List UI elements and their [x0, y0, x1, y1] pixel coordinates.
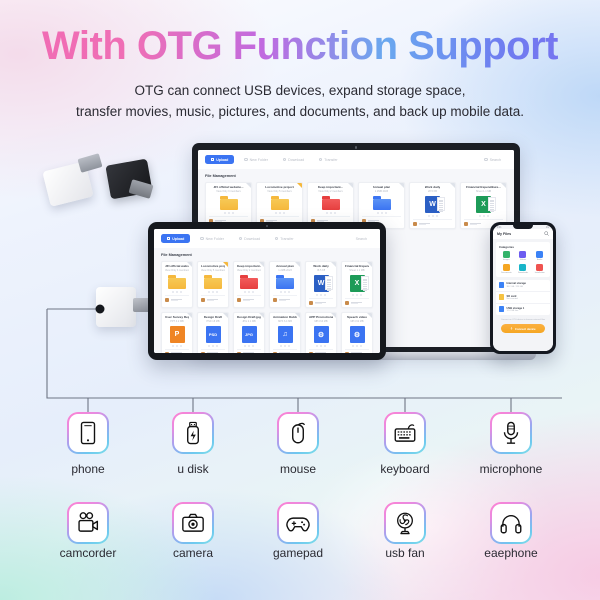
file-card-subtitle: 1.2MB 2023	[375, 190, 388, 193]
device-tile-keyboard[interactable]	[384, 412, 426, 454]
file-card-icon	[240, 275, 258, 289]
doc-word-icon: W	[425, 196, 440, 213]
gamepad-icon	[285, 510, 311, 536]
file-card-subtitle: MP4 92 MB	[350, 320, 363, 323]
phone-category[interactable]: Installation	[532, 264, 547, 274]
file-card-avatars	[352, 345, 362, 347]
file-card[interactable]: Keep important...View Only 2 members	[233, 261, 265, 308]
file-card-avatars	[172, 291, 182, 293]
folder-yellow-icon	[271, 196, 289, 210]
file-card-icon: ⚙	[314, 326, 329, 343]
page-title: With OTG Function Support	[0, 24, 600, 69]
file-card-title: JFI official website...	[165, 265, 189, 269]
device-label: camcorder	[33, 546, 143, 560]
card-corner-fold	[501, 183, 506, 188]
file-card-icon	[271, 196, 289, 210]
avatar	[309, 301, 313, 305]
file-card-subtitle: 1.2MB 2023	[278, 269, 291, 272]
phone-category[interactable]: Audio	[532, 251, 547, 261]
storage-icon	[499, 294, 504, 300]
folder-blue-icon	[276, 275, 294, 289]
file-card-title: Work daily	[425, 186, 441, 190]
file-card-icon: PSD	[206, 326, 221, 343]
usb-flash-drive-icon	[180, 420, 206, 446]
file-card-avatars	[275, 212, 285, 214]
action-transfer-tablet[interactable]: Transfer	[270, 234, 298, 243]
file-manager-tablet: Upload New Folder Download Transfer	[154, 229, 380, 353]
folder-yellow-icon	[220, 196, 238, 210]
upload-icon	[167, 237, 170, 240]
usb-icon	[510, 327, 513, 330]
device-tile-camcorder[interactable]	[67, 502, 109, 544]
device-tile-camera[interactable]	[172, 502, 214, 544]
category-icon	[536, 264, 543, 271]
mouse-icon	[285, 420, 311, 446]
file-card-footer	[237, 295, 261, 302]
camera-icon	[180, 510, 206, 536]
category-label: Audio	[537, 259, 542, 261]
avatar	[165, 352, 169, 353]
connect-device-label: Connect device	[515, 327, 536, 331]
connect-device-button[interactable]: Connect device	[501, 324, 545, 333]
file-card-avatars	[377, 212, 387, 214]
download-icon	[283, 158, 286, 161]
file-card-title: Annual plan	[276, 265, 294, 269]
file-card-avatars	[172, 345, 182, 347]
file-card-footer	[273, 295, 297, 302]
file-card[interactable]: JFI official website...View Only 3 membe…	[161, 261, 193, 308]
file-card-title: Design Draft	[204, 316, 222, 320]
file-card-title: Annual plan	[373, 186, 391, 190]
file-card-subtitle: Sheet 1.1 MB	[476, 190, 491, 193]
file-card-footer	[413, 219, 452, 226]
card-corner-fold	[223, 262, 228, 267]
avatar	[413, 222, 417, 226]
phone-mockup: 9:41 4G My Files Categories ImagesVideos…	[490, 222, 556, 354]
doc-video-icon: ⚙	[314, 326, 329, 343]
storage-detail: 12.4 GB free	[507, 310, 525, 312]
category-icon	[519, 251, 526, 258]
file-manager-toolbar-tablet: Upload New Folder Download Transfer	[154, 229, 380, 248]
file-card-icon	[276, 275, 294, 289]
file-card[interactable]: APP Promotional VideoMP4 64 MB⚙	[305, 312, 337, 353]
file-card-subtitle: View Only 2 members	[318, 190, 342, 193]
avatar	[273, 298, 277, 302]
otg-adapter-black-top	[104, 152, 166, 206]
device-label: mouse	[243, 462, 353, 476]
device-tile-mouse[interactable]	[277, 412, 319, 454]
folder-blue-icon	[373, 196, 391, 210]
file-card-avatars	[244, 291, 254, 293]
file-card-avatars	[352, 294, 362, 296]
category-icon	[536, 251, 543, 258]
avatar	[237, 298, 241, 302]
file-card-avatars	[208, 291, 218, 293]
search-input-tablet[interactable]: Search	[348, 234, 373, 243]
avatar	[165, 298, 169, 302]
avatar	[309, 352, 313, 353]
device-label: phone	[33, 462, 143, 476]
file-card-avatars	[428, 215, 438, 217]
device-label: microphone	[456, 462, 566, 476]
card-corner-fold	[295, 313, 300, 318]
card-corner-fold	[450, 183, 455, 188]
device-tile-gamepad[interactable]	[277, 502, 319, 544]
file-card-avatars	[224, 212, 234, 214]
file-card-footer	[345, 298, 369, 305]
download-icon	[239, 237, 242, 240]
file-card-icon: X	[350, 275, 365, 292]
file-card[interactable]: Design Draft.jpgJPG 2.1 MBJPG	[233, 312, 265, 353]
file-card-avatars	[280, 291, 290, 293]
doc-ppt-icon: P	[170, 326, 185, 343]
action-download[interactable]: Download	[278, 155, 309, 164]
file-card[interactable]: Locomotive projectView Only 5 members	[197, 261, 229, 308]
avatar	[464, 222, 468, 226]
file-card[interactable]: Animation DubbingMP3 6.4 MB♫	[269, 312, 301, 353]
otg-adapter-white-top	[46, 152, 108, 204]
upload-button-tablet[interactable]: Upload	[161, 234, 190, 243]
file-card-subtitle: JPG 2.1 MB	[242, 320, 255, 323]
phone-category[interactable]: Images	[499, 251, 514, 261]
doc-excel-icon: X	[350, 275, 365, 292]
storage-detail: 38.2 GB / 128 GB	[507, 286, 526, 288]
file-manager-toolbar: Upload New Folder Download Transfer	[198, 150, 514, 169]
file-card-footer	[201, 295, 225, 302]
device-tile-microphone[interactable]	[490, 412, 532, 454]
file-card-title: JFI official website...	[213, 186, 243, 190]
file-card-avatars	[316, 294, 326, 296]
action-new-folder[interactable]: New Folder	[239, 155, 273, 164]
doc-video-icon: ⚙	[350, 326, 365, 343]
card-corner-fold	[187, 262, 192, 267]
file-card[interactable]: Financial Expenditure...Sheet 1.1 MBX	[341, 261, 373, 308]
card-corner-fold	[246, 183, 251, 188]
device-label: eaephone	[456, 546, 566, 560]
phone-app-header: My Files	[493, 229, 553, 239]
file-card-subtitle: 28.5 KB	[428, 190, 437, 193]
card-corner-fold	[295, 262, 300, 267]
phone-file-app: 9:41 4G My Files Categories ImagesVideos…	[493, 225, 553, 351]
file-card-footer	[237, 349, 261, 353]
file-card-icon: W	[314, 275, 329, 292]
file-card-subtitle: View Only 3 members	[216, 190, 240, 193]
device-label: keyboard	[350, 462, 460, 476]
file-card-icon	[322, 196, 340, 210]
action-download-tablet[interactable]: Download	[234, 234, 265, 243]
file-card-avatars	[326, 212, 336, 214]
storage-row[interactable]: SD cardNot inserted	[496, 292, 550, 304]
file-card-avatars	[479, 215, 489, 217]
file-card-title: User Survey Report	[165, 316, 189, 320]
card-corner-fold	[367, 313, 372, 318]
category-icon	[503, 264, 510, 271]
file-card-icon: P	[170, 326, 185, 343]
folder-yellow-icon	[168, 275, 186, 289]
file-card-subtitle: View Only 5 members	[201, 269, 225, 272]
file-card-footer	[273, 349, 297, 353]
tablet-camera-icon	[266, 225, 268, 227]
file-card-title: APP Promotional Video	[309, 316, 333, 320]
file-card[interactable]: Design DraftPSD 18 MBPSD	[197, 312, 229, 353]
search-icon	[484, 158, 487, 161]
avatar	[345, 352, 349, 353]
file-card-title: Keep important...	[237, 265, 261, 269]
category-label: Downloads	[518, 272, 528, 274]
file-card-icon: ♫	[278, 326, 293, 343]
file-card-title: Keep important...	[318, 186, 343, 190]
device-label: u disk	[138, 462, 248, 476]
file-card-subtitle: Sheet 1.1 MB	[349, 269, 364, 272]
phone-category[interactable]: Videos	[516, 251, 531, 261]
action-transfer[interactable]: Transfer	[314, 155, 342, 164]
keyboard-icon	[392, 420, 418, 446]
phone-icon	[75, 420, 101, 446]
device-tile-phone[interactable]	[67, 412, 109, 454]
section-title: File Management	[205, 174, 507, 178]
file-card-footer	[345, 349, 369, 353]
action-new-folder-tablet[interactable]: New Folder	[195, 234, 229, 243]
file-card-icon	[168, 275, 186, 289]
file-card-subtitle: View Only 3 members	[165, 269, 189, 272]
category-icon	[503, 251, 510, 258]
headphones-icon	[498, 510, 524, 536]
category-label: Installation	[535, 272, 545, 274]
categories-heading: Categories	[499, 245, 547, 249]
card-corner-fold	[259, 262, 264, 267]
upload-button[interactable]: Upload	[205, 155, 234, 164]
upload-button-label: Upload	[216, 158, 228, 162]
search-icon[interactable]	[544, 231, 549, 236]
storage-name: Internal storage	[507, 282, 526, 285]
file-card-icon: ⚙	[350, 326, 365, 343]
file-card-footer	[201, 349, 225, 353]
device-tile-eaephone[interactable]	[490, 502, 532, 544]
microphone-icon	[498, 420, 524, 446]
card-corner-fold	[348, 183, 353, 188]
storage-row[interactable]: USB storage 112.4 GB free	[496, 304, 550, 315]
tablet-mockup: Upload New Folder Download Transfer	[148, 222, 386, 360]
card-corner-fold	[259, 313, 264, 318]
category-label: Documents	[501, 272, 512, 274]
storage-row[interactable]: Internal storage38.2 GB / 128 GB	[496, 280, 550, 292]
card-corner-fold	[399, 183, 404, 188]
card-corner-fold	[367, 262, 372, 267]
subtitle-line-2: transfer movies, music, pictures, and do…	[0, 101, 600, 122]
avatar	[201, 298, 205, 302]
device-label: usb fan	[350, 546, 460, 560]
folder-yellow-icon	[204, 275, 222, 289]
doc-word-icon: W	[314, 275, 329, 292]
storage-icon	[499, 306, 504, 312]
file-card-title: Work daily	[313, 265, 329, 269]
avatar	[237, 352, 241, 353]
folder-red-icon	[240, 275, 258, 289]
card-corner-fold	[187, 313, 192, 318]
phone-app-title: My Files	[497, 232, 511, 236]
file-card-title: Speech video	[347, 316, 367, 320]
file-card-avatars	[208, 345, 218, 347]
file-card-subtitle: View Only 5 members	[267, 190, 291, 193]
device-label: gamepad	[243, 546, 353, 560]
file-card-subtitle: PPT 4.2 MB	[170, 320, 183, 323]
file-card-subtitle: MP4 64 MB	[314, 320, 327, 323]
card-corner-fold	[223, 313, 228, 318]
file-card-subtitle: MP3 6.4 MB	[278, 320, 292, 323]
phone-category[interactable]: Downloads	[516, 264, 531, 274]
device-label: camera	[138, 546, 248, 560]
phone-notch	[513, 225, 533, 229]
folder-plus-icon	[244, 158, 247, 161]
category-label: Videos	[520, 259, 526, 261]
file-card-subtitle: View Only 2 members	[237, 269, 261, 272]
file-card-footer	[309, 298, 333, 305]
file-card-avatars	[244, 345, 254, 347]
card-corner-fold	[331, 313, 336, 318]
phone-screen: 9:41 4G My Files Categories ImagesVideos…	[493, 225, 553, 351]
file-card-title: Locomotive project	[201, 265, 225, 269]
subtitle-line-1: OTG can connect USB devices, expand stor…	[0, 80, 600, 101]
file-card-icon: W	[425, 196, 440, 213]
file-card-icon: X	[476, 196, 491, 213]
device-tile-usb-fan[interactable]	[384, 502, 426, 544]
phone-storage-list: Internal storage38.2 GB / 128 GBSD cardN…	[496, 280, 550, 316]
file-card-icon	[220, 196, 238, 210]
transfer-icon	[319, 158, 322, 161]
avatar	[201, 352, 205, 353]
doc-jpg-icon: JPG	[242, 326, 257, 343]
transfer-icon	[275, 237, 278, 240]
file-card-icon: JPG	[242, 326, 257, 343]
device-tile-u-disk[interactable]	[172, 412, 214, 454]
file-card[interactable]: Work daily28.5 KBW	[305, 261, 337, 308]
file-card-title: Locomotive project	[265, 186, 294, 190]
phone-hint-text: Connect an OTG device to browse external…	[498, 319, 548, 322]
phone-category[interactable]: Documents	[499, 264, 514, 274]
file-card-avatars	[280, 345, 290, 347]
upload-icon	[211, 158, 214, 161]
file-card[interactable]: User Survey ReportPPT 4.2 MBP	[161, 312, 193, 353]
file-card-avatars	[316, 345, 326, 347]
file-card-footer	[309, 349, 333, 353]
file-card-icon	[373, 196, 391, 210]
fan-icon	[392, 510, 418, 536]
phone-categories-card: Categories ImagesVideosAudioDocumentsDow…	[496, 242, 550, 278]
storage-icon	[499, 282, 504, 288]
file-card-footer	[165, 349, 189, 353]
section-title-tablet: File Management	[161, 253, 373, 257]
file-card-subtitle: 28.5 KB	[317, 269, 326, 272]
file-card-subtitle: PSD 18 MB	[206, 320, 219, 323]
doc-excel-icon: X	[476, 196, 491, 213]
file-card-title: Animation Dubbing	[273, 316, 297, 320]
page-subtitle: OTG can connect USB devices, expand stor…	[0, 80, 600, 122]
laptop-webcam-icon	[355, 146, 358, 149]
doc-music-icon: ♫	[278, 326, 293, 343]
category-label: Images	[503, 259, 510, 261]
file-card-title: Financial Expenditure...	[345, 265, 369, 269]
file-card[interactable]: Speech videoMP4 92 MB⚙	[341, 312, 373, 353]
search-input[interactable]: Search	[478, 155, 507, 164]
camcorder-icon	[75, 510, 101, 536]
folder-red-icon	[322, 196, 340, 210]
tablet-screen: Upload New Folder Download Transfer	[154, 229, 380, 353]
storage-detail: Not inserted	[507, 298, 518, 300]
doc-psd-icon: PSD	[206, 326, 221, 343]
file-card-icon	[204, 275, 222, 289]
file-card[interactable]: Work daily28.5 KBW	[409, 182, 456, 229]
file-card[interactable]: Annual plan1.2MB 2023	[269, 261, 301, 308]
avatar	[273, 352, 277, 353]
folder-plus-icon	[200, 237, 203, 240]
card-corner-fold	[297, 183, 302, 188]
file-card-title: Design Draft.jpg	[237, 316, 261, 320]
category-icon	[519, 264, 526, 271]
file-card-title: Financial Expenditure...	[466, 186, 501, 190]
card-corner-fold	[331, 262, 336, 267]
avatar	[345, 301, 349, 305]
file-card-footer	[165, 295, 189, 302]
